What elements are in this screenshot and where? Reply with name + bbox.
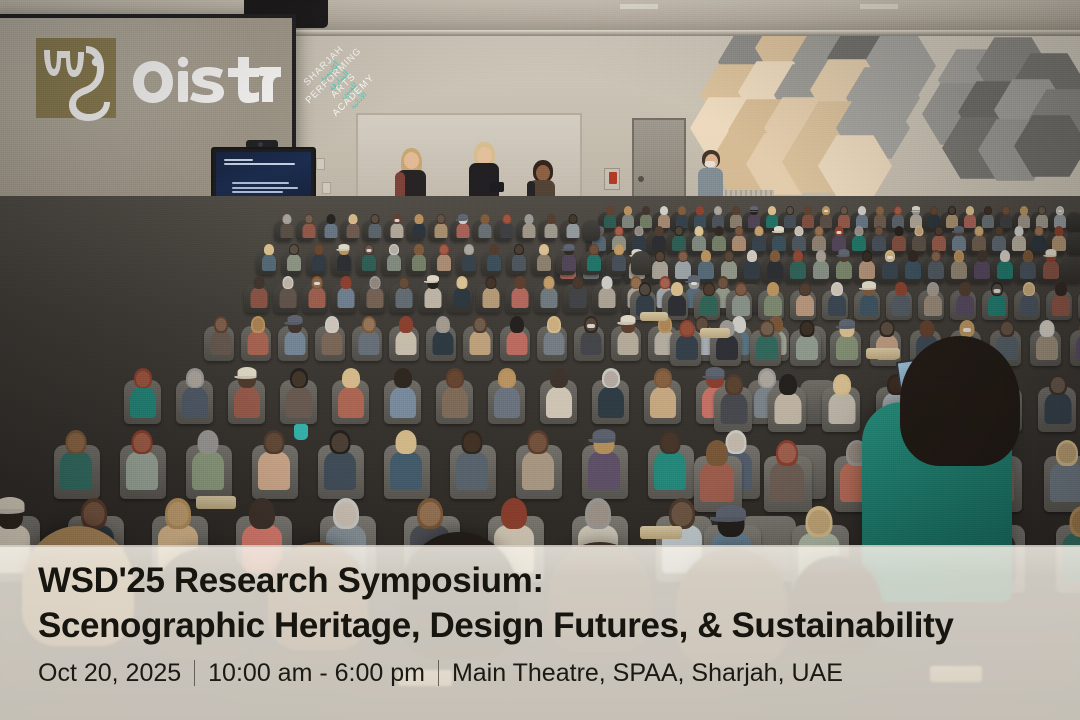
audience-head bbox=[415, 215, 422, 223]
audience-torso bbox=[988, 294, 1006, 316]
audience-head bbox=[787, 207, 793, 214]
audience-torso bbox=[859, 260, 875, 279]
audience-torso bbox=[924, 294, 942, 316]
audience-cap bbox=[954, 226, 964, 231]
event-location: Main Theatre, SPAA, Sharjah, UAE bbox=[452, 658, 843, 688]
audience-cap bbox=[862, 281, 876, 288]
audience-head bbox=[718, 278, 727, 288]
audience-head bbox=[315, 245, 323, 254]
audience-torso bbox=[390, 451, 422, 490]
audience-head bbox=[801, 322, 813, 335]
audience-torso bbox=[772, 235, 786, 251]
audience-member bbox=[566, 214, 579, 237]
audience-member bbox=[774, 374, 801, 422]
audience-torso bbox=[478, 223, 491, 238]
audience-torso bbox=[872, 235, 886, 251]
audience-head bbox=[681, 322, 693, 335]
audience-member bbox=[828, 282, 846, 315]
audience-head bbox=[548, 318, 559, 331]
audience-member bbox=[284, 316, 305, 354]
audience-torso bbox=[358, 330, 379, 355]
audience-torso bbox=[828, 294, 846, 316]
audience-member bbox=[676, 206, 688, 227]
audience-member bbox=[632, 226, 646, 250]
audience-member bbox=[832, 226, 846, 250]
audience-torso bbox=[652, 235, 666, 251]
audience-torso bbox=[566, 223, 579, 238]
audience-member bbox=[956, 282, 974, 315]
audience-torso bbox=[512, 254, 526, 271]
audience-head bbox=[188, 371, 202, 387]
audience-torso bbox=[192, 451, 224, 490]
face-mask bbox=[1058, 210, 1062, 212]
audience-torso bbox=[932, 235, 946, 251]
audience-member bbox=[905, 250, 921, 278]
auditorium-seat bbox=[1066, 232, 1080, 255]
audience-torso bbox=[506, 330, 527, 355]
auditorium-seat bbox=[631, 251, 651, 275]
audience-member bbox=[772, 226, 786, 250]
audience-torso bbox=[182, 386, 208, 418]
audience-member bbox=[562, 244, 576, 270]
audience-member bbox=[412, 244, 426, 270]
audience-member bbox=[972, 226, 986, 250]
audience-torso bbox=[836, 260, 852, 279]
audience-torso bbox=[500, 223, 513, 238]
audience-head bbox=[661, 207, 667, 214]
audience-torso bbox=[432, 330, 453, 355]
audience-member bbox=[720, 374, 747, 422]
audience-head bbox=[936, 227, 943, 235]
audience-torso bbox=[1076, 334, 1080, 360]
audience-head bbox=[349, 215, 356, 223]
audience-torso bbox=[482, 287, 499, 308]
audience-cap bbox=[839, 319, 855, 327]
audience-member bbox=[988, 282, 1006, 315]
audience-head bbox=[725, 252, 733, 261]
audience-torso bbox=[997, 260, 1013, 279]
audience-head bbox=[500, 371, 514, 387]
audience-member bbox=[636, 282, 654, 315]
audience-member bbox=[928, 250, 944, 278]
audience-member bbox=[692, 226, 706, 250]
audience-torso bbox=[569, 287, 586, 308]
audience-torso bbox=[434, 223, 447, 238]
meta-separator bbox=[438, 660, 439, 686]
audience-member bbox=[432, 316, 453, 354]
audience-member bbox=[852, 226, 866, 250]
audience-member bbox=[730, 206, 742, 227]
audience-member bbox=[522, 430, 554, 488]
audience-member bbox=[874, 206, 886, 227]
audience-head bbox=[636, 227, 643, 235]
audience-member bbox=[964, 206, 976, 227]
audience-member bbox=[487, 244, 501, 270]
audience-member bbox=[756, 320, 778, 359]
audience-torso bbox=[287, 254, 301, 271]
audience-member bbox=[928, 206, 940, 227]
audience-member bbox=[1032, 226, 1046, 250]
audience-member bbox=[796, 320, 818, 359]
audience-head bbox=[437, 318, 448, 331]
audience-head bbox=[540, 245, 548, 254]
audience-head bbox=[1036, 227, 1043, 235]
audience-head bbox=[928, 284, 938, 295]
audience-member bbox=[752, 226, 766, 250]
audience-head bbox=[696, 227, 703, 235]
audience-member bbox=[279, 276, 296, 307]
audience-torso bbox=[312, 254, 326, 271]
audience-torso bbox=[952, 235, 966, 251]
audience-torso bbox=[1032, 235, 1046, 251]
audience-member bbox=[1052, 282, 1070, 315]
audience-torso bbox=[286, 386, 312, 418]
audience-head bbox=[547, 215, 554, 223]
audience-head bbox=[544, 278, 553, 288]
wall-outlet bbox=[322, 182, 331, 194]
audience-torso bbox=[792, 235, 806, 251]
foreground-attendee-hair bbox=[900, 336, 1020, 466]
audience-torso bbox=[813, 260, 829, 279]
audience-member bbox=[442, 368, 468, 416]
event-date: Oct 20, 2025 bbox=[38, 658, 181, 688]
audience-member bbox=[312, 244, 326, 270]
ceiling-light bbox=[620, 4, 658, 9]
audience-torso bbox=[882, 260, 898, 279]
door-handle bbox=[638, 176, 644, 182]
audience-member bbox=[784, 206, 796, 227]
audience-member bbox=[721, 250, 737, 278]
audience-head bbox=[370, 278, 379, 288]
audience-member bbox=[836, 320, 858, 359]
audience-head bbox=[283, 278, 292, 288]
audience-member bbox=[366, 276, 383, 307]
audience-head bbox=[1051, 377, 1065, 393]
audience-member bbox=[992, 226, 1006, 250]
audience-torso bbox=[280, 223, 293, 238]
audience-head bbox=[326, 318, 337, 331]
audience-torso bbox=[767, 260, 783, 279]
audience-member bbox=[182, 368, 208, 416]
audience-torso bbox=[1043, 260, 1059, 279]
audience-head bbox=[921, 322, 933, 335]
audience-head bbox=[679, 207, 685, 214]
audience-head bbox=[932, 252, 940, 261]
audience-head bbox=[420, 502, 441, 526]
audience-member bbox=[892, 226, 906, 250]
oistat-logo bbox=[131, 54, 281, 110]
face-mask bbox=[314, 282, 320, 285]
audience-cap bbox=[774, 226, 784, 231]
audience-member bbox=[997, 250, 1013, 278]
audience-torso bbox=[587, 254, 601, 271]
audience-head bbox=[916, 227, 923, 235]
audience-member bbox=[540, 276, 557, 307]
audience-member bbox=[952, 226, 966, 250]
audience-torso bbox=[544, 223, 557, 238]
auditorium-seat bbox=[582, 220, 600, 241]
audience-torso bbox=[1050, 462, 1080, 502]
audience-torso bbox=[1052, 294, 1070, 316]
face-mask bbox=[394, 219, 399, 222]
audience-member bbox=[321, 316, 342, 354]
audience-head bbox=[832, 284, 842, 295]
audience-head bbox=[733, 207, 739, 214]
audience-torso bbox=[692, 235, 706, 251]
audience-torso bbox=[732, 294, 750, 316]
audience-member bbox=[700, 440, 734, 500]
audience-torso bbox=[390, 386, 416, 418]
audience-member bbox=[250, 276, 267, 307]
audience-torso bbox=[442, 386, 468, 418]
audience-torso bbox=[456, 223, 469, 238]
audience-head bbox=[1058, 443, 1076, 463]
audience-head bbox=[881, 322, 893, 335]
audience-torso bbox=[412, 254, 426, 271]
audience-torso bbox=[284, 330, 305, 355]
audience-head bbox=[440, 245, 448, 254]
audience-member bbox=[434, 214, 447, 237]
audience-cap bbox=[688, 275, 700, 281]
face-mask bbox=[367, 249, 372, 252]
audience-head bbox=[84, 502, 105, 526]
audience-member bbox=[569, 276, 586, 307]
audience-torso bbox=[790, 260, 806, 279]
audience-head bbox=[727, 377, 741, 393]
audience-torso bbox=[258, 451, 290, 490]
audience-torso bbox=[974, 260, 990, 279]
audience-torso bbox=[764, 294, 782, 316]
audience-torso bbox=[972, 235, 986, 251]
audience-member bbox=[368, 214, 381, 237]
audience-member bbox=[286, 368, 312, 416]
audience-head bbox=[625, 207, 631, 214]
audience-head bbox=[464, 433, 481, 452]
audience-head bbox=[676, 227, 683, 235]
audience-member bbox=[802, 206, 814, 227]
audience-cap bbox=[839, 249, 850, 255]
audience-member bbox=[604, 206, 616, 227]
audience-torso bbox=[522, 451, 554, 490]
spaa-logo: SHARJAH PERFORMING ARTS ACADEMY أكاديمية… bbox=[296, 38, 392, 134]
audience-torso bbox=[302, 223, 315, 238]
audience-member bbox=[580, 316, 601, 354]
audience-head bbox=[835, 377, 849, 393]
audience-torso bbox=[951, 260, 967, 279]
audience-head bbox=[252, 318, 263, 331]
audience-member bbox=[982, 206, 994, 227]
audience-member bbox=[598, 276, 615, 307]
audience-member bbox=[1000, 206, 1012, 227]
audience-member bbox=[668, 282, 686, 315]
audience-head bbox=[371, 215, 378, 223]
audience-head bbox=[465, 245, 473, 254]
audience-member bbox=[872, 226, 886, 250]
audience-member bbox=[126, 430, 158, 488]
audience-torso bbox=[650, 386, 676, 418]
audience-torso bbox=[912, 235, 926, 251]
audience-head bbox=[876, 227, 883, 235]
audience-head bbox=[1056, 227, 1063, 235]
audience-torso bbox=[672, 235, 686, 251]
slide-title-lines bbox=[224, 159, 305, 168]
audience-head bbox=[474, 318, 485, 331]
audience-cap bbox=[1046, 249, 1057, 255]
audience-head bbox=[1001, 252, 1009, 261]
face-mask bbox=[691, 282, 697, 285]
audience-torso bbox=[250, 287, 267, 308]
audience-member bbox=[813, 250, 829, 278]
hexagonal-acoustic-panel-array bbox=[690, 18, 1080, 218]
audience-member bbox=[712, 226, 726, 250]
audience-torso bbox=[456, 451, 488, 490]
audience-head bbox=[895, 207, 901, 214]
audience-member bbox=[543, 316, 564, 354]
audience-torso bbox=[337, 254, 351, 271]
audience-torso bbox=[390, 223, 403, 238]
audience-torso bbox=[126, 451, 158, 490]
audience-member bbox=[820, 206, 832, 227]
audience-head bbox=[817, 252, 825, 261]
audience-member bbox=[675, 250, 691, 278]
audience-member bbox=[358, 316, 379, 354]
audience-member bbox=[437, 244, 451, 270]
audience-member bbox=[280, 214, 293, 237]
audience-member bbox=[652, 250, 668, 278]
audience-torso bbox=[905, 260, 921, 279]
audience-head bbox=[656, 371, 670, 387]
audience-member bbox=[892, 206, 904, 227]
audience-torso bbox=[368, 223, 381, 238]
audience-torso bbox=[130, 386, 156, 418]
audience-head bbox=[266, 433, 283, 452]
audience-cap bbox=[427, 275, 439, 281]
audience-member bbox=[828, 374, 855, 422]
audience-member bbox=[654, 430, 686, 488]
audience-head bbox=[715, 207, 721, 214]
audience-member bbox=[512, 244, 526, 270]
audience-cap bbox=[458, 214, 468, 219]
audience-torso bbox=[598, 386, 624, 418]
audience-torso bbox=[262, 254, 276, 271]
audience-head bbox=[457, 278, 466, 288]
audience-member bbox=[453, 276, 470, 307]
audience-torso bbox=[487, 254, 501, 271]
audience-head bbox=[590, 245, 598, 254]
audience-member bbox=[346, 214, 359, 237]
audience-member bbox=[1012, 226, 1026, 250]
audience-member bbox=[1050, 440, 1080, 500]
audience-torso bbox=[617, 330, 638, 355]
audience-member bbox=[546, 368, 572, 416]
audience-cap bbox=[750, 206, 758, 210]
audience-torso bbox=[537, 254, 551, 271]
audience-head bbox=[672, 502, 693, 526]
audience-torso bbox=[744, 260, 760, 279]
audience-member bbox=[612, 244, 626, 270]
audience-head bbox=[996, 227, 1003, 235]
audience-member bbox=[860, 282, 878, 315]
audience-member bbox=[192, 430, 224, 488]
audience-member bbox=[767, 250, 783, 278]
audience-head bbox=[949, 207, 955, 214]
audience-member bbox=[258, 430, 290, 488]
audience-head bbox=[1039, 207, 1045, 214]
audience-head bbox=[134, 433, 151, 452]
audience-head bbox=[283, 215, 290, 223]
audience-member bbox=[932, 226, 946, 250]
audience-cap bbox=[0, 497, 25, 512]
meta-separator bbox=[194, 660, 195, 686]
audience-member bbox=[424, 276, 441, 307]
audience-head bbox=[573, 278, 582, 288]
audience-member bbox=[544, 214, 557, 237]
audience-torso bbox=[774, 392, 801, 424]
audience-member bbox=[640, 206, 652, 227]
audience-head bbox=[136, 371, 150, 387]
audience-torso bbox=[676, 334, 698, 360]
audience-torso bbox=[395, 330, 416, 355]
audience-torso bbox=[387, 254, 401, 271]
audience-head bbox=[503, 215, 510, 223]
audience-member bbox=[302, 214, 315, 237]
audience-head bbox=[985, 207, 991, 214]
audience-head bbox=[292, 371, 306, 387]
audience-head bbox=[662, 433, 679, 452]
audience-member bbox=[836, 250, 852, 278]
audience-torso bbox=[210, 330, 231, 355]
audience-torso bbox=[612, 254, 626, 271]
audience-head bbox=[1041, 322, 1053, 335]
audience-torso bbox=[1020, 294, 1038, 316]
audience-member bbox=[766, 206, 778, 227]
audience-torso bbox=[324, 451, 356, 490]
audience-torso bbox=[462, 254, 476, 271]
audience-head bbox=[679, 252, 687, 261]
audience-head bbox=[168, 502, 189, 526]
audience-member bbox=[1043, 250, 1059, 278]
audience-member bbox=[1018, 206, 1030, 227]
audience-head bbox=[437, 215, 444, 223]
audience-member bbox=[456, 430, 488, 488]
audience-cap bbox=[287, 315, 302, 323]
audience-head bbox=[588, 502, 609, 526]
audience-cap bbox=[716, 505, 746, 520]
audience-torso bbox=[892, 294, 910, 316]
audience-head bbox=[481, 215, 488, 223]
audience-head bbox=[856, 227, 863, 235]
audience-torso bbox=[546, 386, 572, 418]
audience-torso bbox=[812, 235, 826, 251]
audience-member bbox=[478, 214, 491, 237]
audience-member bbox=[482, 276, 499, 307]
audience-torso bbox=[732, 235, 746, 251]
audience-member bbox=[1052, 226, 1066, 250]
audience-head bbox=[344, 371, 358, 387]
audience-head bbox=[800, 284, 810, 295]
audience-torso bbox=[362, 254, 376, 271]
audience-torso bbox=[337, 287, 354, 308]
event-banner: WSD'25 Research Symposium: Scenographic … bbox=[0, 545, 1080, 720]
audience-member bbox=[456, 214, 469, 237]
audience-head bbox=[332, 433, 349, 452]
audience-member bbox=[395, 316, 416, 354]
promo-graphic: SHARJAH PERFORMING ARTS ACADEMY أكاديمية… bbox=[0, 0, 1080, 720]
audience-head bbox=[976, 227, 983, 235]
audience-head bbox=[756, 227, 763, 235]
audience-member bbox=[712, 206, 724, 227]
audience-member bbox=[812, 226, 826, 250]
